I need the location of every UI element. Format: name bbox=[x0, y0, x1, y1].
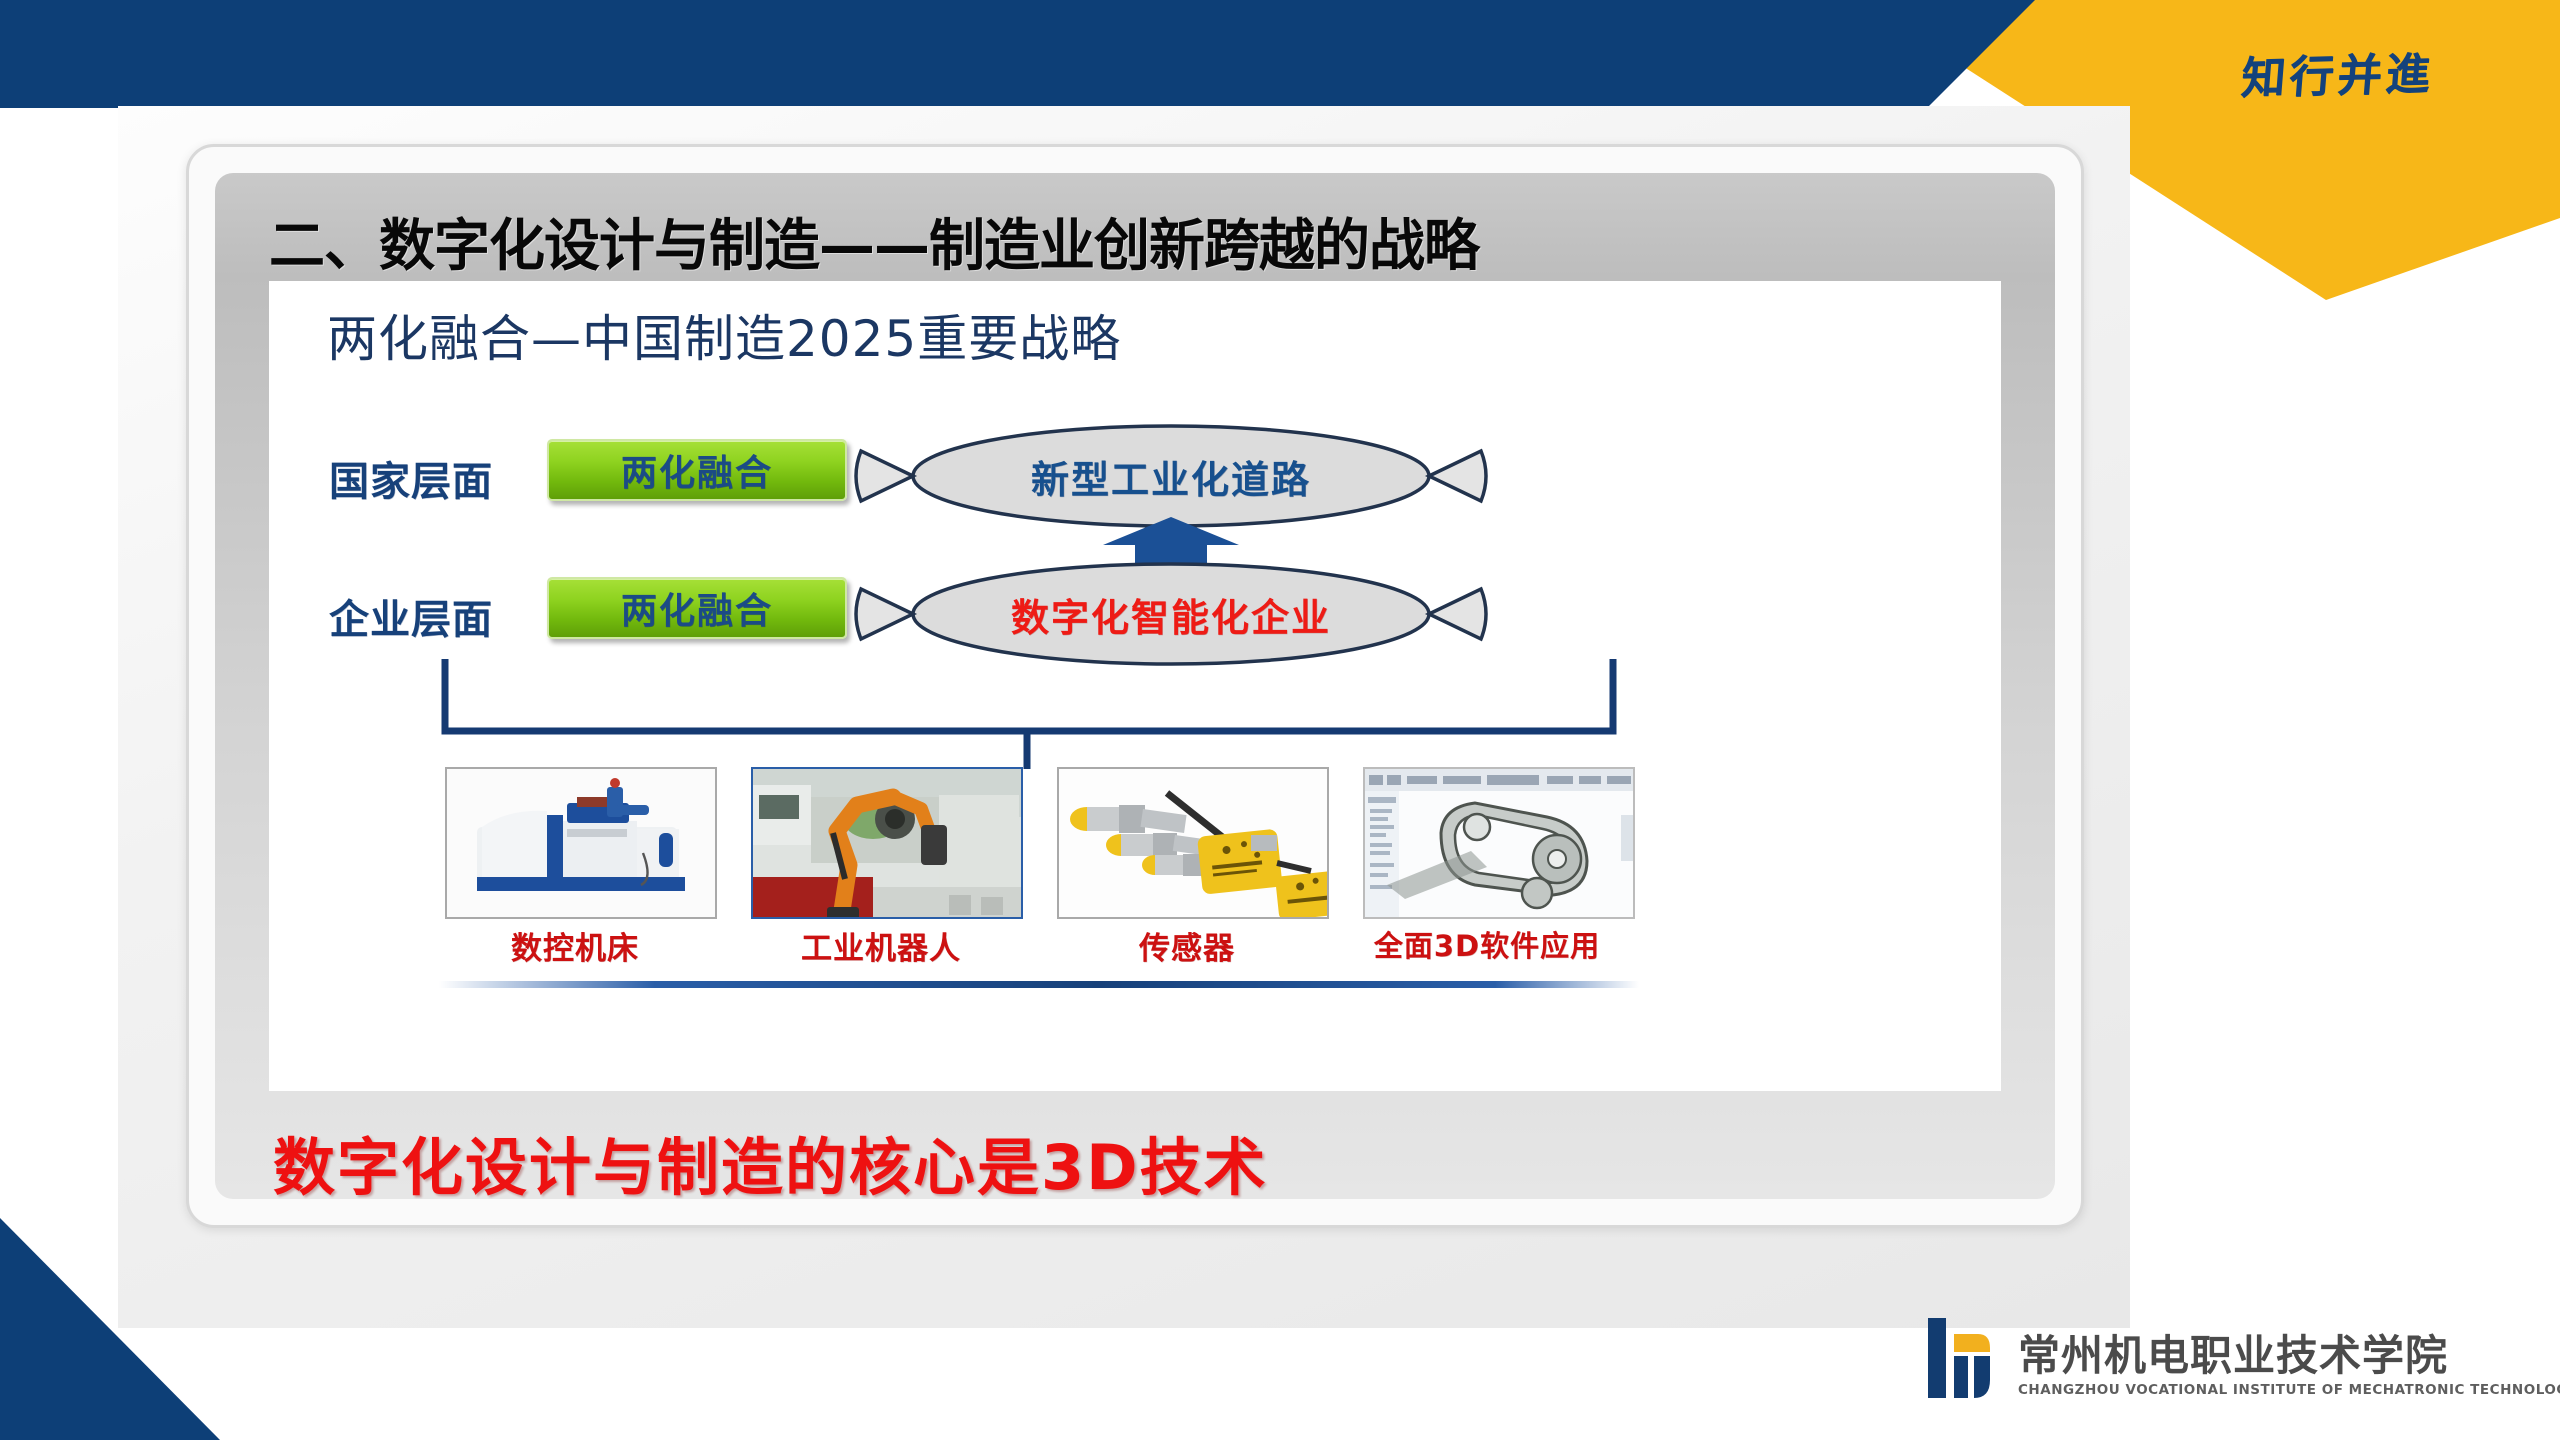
level-label-national: 国家层面 bbox=[329, 449, 493, 507]
photo-caption-cad: 全面3D软件应用 bbox=[1351, 923, 1623, 965]
slide-conclusion-headline: 数字化设计与制造的核心是3D技术 bbox=[273, 1117, 1268, 1199]
outcome-label-national: 新型工业化道路 bbox=[851, 421, 1491, 531]
photo-industrial-robot bbox=[751, 767, 1023, 919]
integration-button-enterprise-label: 两化融合 bbox=[621, 582, 773, 634]
photo-sensors bbox=[1057, 767, 1329, 919]
bracket-connector bbox=[439, 653, 1619, 771]
institute-name-en: CHANGZHOU VOCATIONAL INSTITUTE OF MECHAT… bbox=[2018, 1382, 2560, 1398]
slide-card-outer: 二、数字化设计与制造——制造业创新跨越的战略 两化融合—中国制造2025重要战略… bbox=[118, 106, 2130, 1328]
photo-cnc-machine bbox=[445, 767, 717, 919]
logo-text-block: 常州机电职业技术学院 CHANGZHOU VOCATIONAL INSTITUT… bbox=[2018, 1335, 2560, 1398]
outcome-callout-national: 新型工业化道路 bbox=[851, 421, 1491, 531]
slide-subtitle: 两化融合—中国制造2025重要战略 bbox=[327, 299, 1121, 371]
slide-body-panel: 两化融合—中国制造2025重要战略 国家层面 两化融合 新型工业化道路 bbox=[269, 281, 2001, 1091]
institute-logo: 常州机电职业技术学院 CHANGZHOU VOCATIONAL INSTITUT… bbox=[1928, 1318, 2560, 1398]
presentation-slide: 知行并進 二、数字化设计与制造——制造业创新跨越的战略 两化融合—中国制造202… bbox=[0, 0, 2560, 1440]
photo-caption-sensor: 传感器 bbox=[1051, 923, 1323, 968]
top-blue-band bbox=[0, 0, 1890, 108]
calligraphy-motto: 知行并進 bbox=[2239, 37, 2437, 106]
decorative-underline bbox=[439, 981, 1639, 988]
photo-caption-cnc: 数控机床 bbox=[439, 923, 711, 968]
photo-caption-robot: 工业机器人 bbox=[745, 923, 1017, 968]
logo-mark-icon bbox=[1928, 1318, 2002, 1398]
integration-button-enterprise[interactable]: 两化融合 bbox=[547, 577, 847, 639]
photo-cad-software bbox=[1363, 767, 1635, 919]
level-label-enterprise: 企业层面 bbox=[329, 587, 493, 645]
integration-button-national[interactable]: 两化融合 bbox=[547, 439, 847, 501]
slide-title: 二、数字化设计与制造——制造业创新跨越的战略 bbox=[269, 201, 2035, 282]
technology-photo-row: 数控机床 工业机器人 传感器 全面3D软件应用 bbox=[445, 767, 1635, 947]
slide-content-area: 二、数字化设计与制造——制造业创新跨越的战略 两化融合—中国制造2025重要战略… bbox=[215, 173, 2055, 1199]
slide-card-frame: 二、数字化设计与制造——制造业创新跨越的战略 两化融合—中国制造2025重要战略… bbox=[186, 144, 2084, 1228]
integration-button-national-label: 两化融合 bbox=[621, 444, 773, 496]
institute-name-cn: 常州机电职业技术学院 bbox=[2018, 1335, 2560, 1378]
